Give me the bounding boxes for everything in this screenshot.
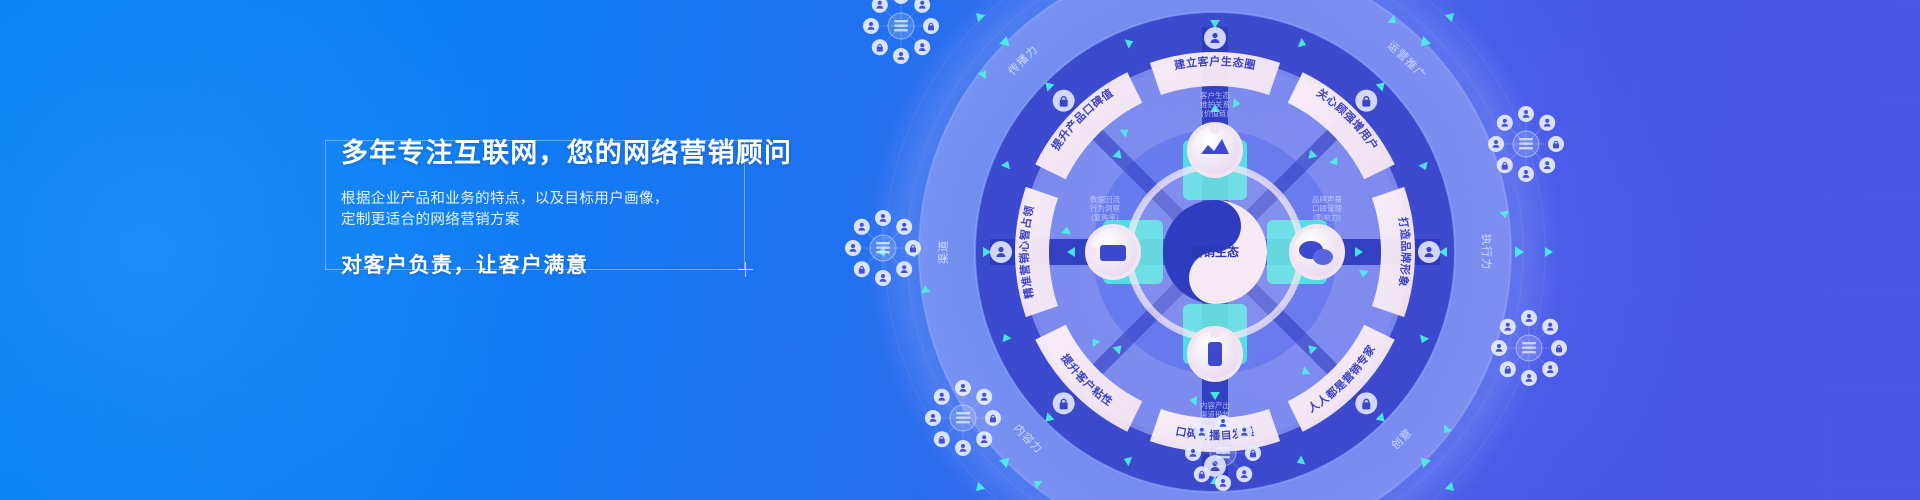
person-icon (1236, 424, 1252, 440)
person-icon (896, 261, 912, 277)
copy-frame: 多年专注互联网，您的网络营销顾问 根据企业产品和业务的特点，以及目标用户画像， … (325, 140, 745, 270)
cluster-core (870, 235, 896, 261)
hub-quadrant-note: 客户生态维护关系(价值链) (1200, 90, 1230, 118)
subtitle-line-2: 定制更适合的网络营销方案 (341, 210, 811, 231)
person-icon (914, 39, 930, 55)
person-icon (955, 380, 971, 396)
hub-icon-bottom (1189, 328, 1241, 380)
satellite-cluster (1480, 98, 1572, 190)
hub-quadrant-note: 数据回流行为洞察(复购率) (1090, 194, 1120, 222)
person-icon (1215, 475, 1231, 491)
subtitle-line-1: 根据企业产品和业务的特点，以及目标用户画像， (341, 189, 811, 210)
hub-icon-top (1189, 124, 1241, 176)
satellite-cluster (855, 0, 947, 72)
satellite-cluster (837, 202, 929, 294)
satellite-cluster (1177, 407, 1269, 499)
person-icon (893, 0, 909, 4)
cluster-core (950, 405, 976, 431)
person-icon (854, 219, 870, 235)
lock-icon (872, 39, 888, 55)
person-icon (1215, 415, 1231, 431)
person-icon (976, 431, 992, 447)
cluster-core (888, 13, 914, 39)
person-icon (1518, 106, 1534, 122)
copy-inner: 多年专注互联网，您的网络营销顾问 根据企业产品和业务的特点，以及目标用户画像， … (341, 136, 811, 279)
person-icon (893, 48, 909, 64)
crosshair-marker-icon (738, 262, 753, 277)
lock-icon (1497, 157, 1513, 173)
hub-quadrant-note: 品牌声量口碑管理(影响力) (1312, 194, 1342, 222)
person-icon (1539, 157, 1555, 173)
person-icon (976, 389, 992, 405)
person-icon (1539, 115, 1555, 131)
lock-icon (1355, 90, 1377, 112)
hub-icon-right (1291, 226, 1343, 278)
lock-icon (1355, 392, 1377, 414)
person-icon (1204, 27, 1226, 49)
hub-label: 营销生态 (1191, 244, 1239, 259)
person-icon (875, 210, 891, 226)
person-icon (1418, 241, 1440, 263)
lock-icon (923, 18, 939, 34)
person-icon (955, 440, 971, 456)
person-icon (1185, 445, 1201, 461)
ecosystem-diagram: 建立客户生态圈关心顾强增用户打造品牌形象人人都是营销专家口碑传播自发展提升客户粘… (865, 0, 1565, 500)
page-title: 多年专注互联网，您的网络营销顾问 (341, 136, 811, 170)
lock-icon (1245, 445, 1261, 461)
person-icon (1521, 310, 1537, 326)
person-icon (1518, 166, 1534, 182)
lock-icon (934, 431, 950, 447)
marketing-banner: 多年专注互联网，您的网络营销顾问 根据企业产品和业务的特点，以及目标用户画像， … (0, 0, 1920, 500)
lock-icon (1053, 90, 1075, 112)
lock-icon (1500, 361, 1516, 377)
subtitle-block: 根据企业产品和业务的特点，以及目标用户画像， 定制更适合的网络营销方案 (341, 189, 811, 231)
person-icon (863, 18, 879, 34)
person-icon (1194, 424, 1210, 440)
person-icon (1500, 319, 1516, 335)
person-icon (1491, 340, 1507, 356)
lock-icon (854, 261, 870, 277)
hub-icon-left (1087, 226, 1139, 278)
person-icon (1497, 115, 1513, 131)
lock-icon (905, 240, 921, 256)
lock-icon (1053, 392, 1075, 414)
lock-icon (1194, 466, 1210, 482)
cluster-core (1210, 440, 1236, 466)
lock-icon (1548, 136, 1564, 152)
person-icon (934, 389, 950, 405)
person-icon (1488, 136, 1504, 152)
person-icon (1542, 319, 1558, 335)
person-icon (990, 241, 1012, 263)
person-icon (896, 219, 912, 235)
person-icon (875, 270, 891, 286)
person-icon (1236, 466, 1252, 482)
person-icon (845, 240, 861, 256)
lock-icon (1551, 340, 1567, 356)
lock-icon (985, 410, 1001, 426)
cluster-core (1516, 335, 1542, 361)
person-icon (1521, 370, 1537, 386)
person-icon (1542, 361, 1558, 377)
cluster-core (1513, 131, 1539, 157)
satellite-cluster (1483, 302, 1575, 394)
satellite-cluster (917, 372, 1009, 464)
person-icon (925, 410, 941, 426)
